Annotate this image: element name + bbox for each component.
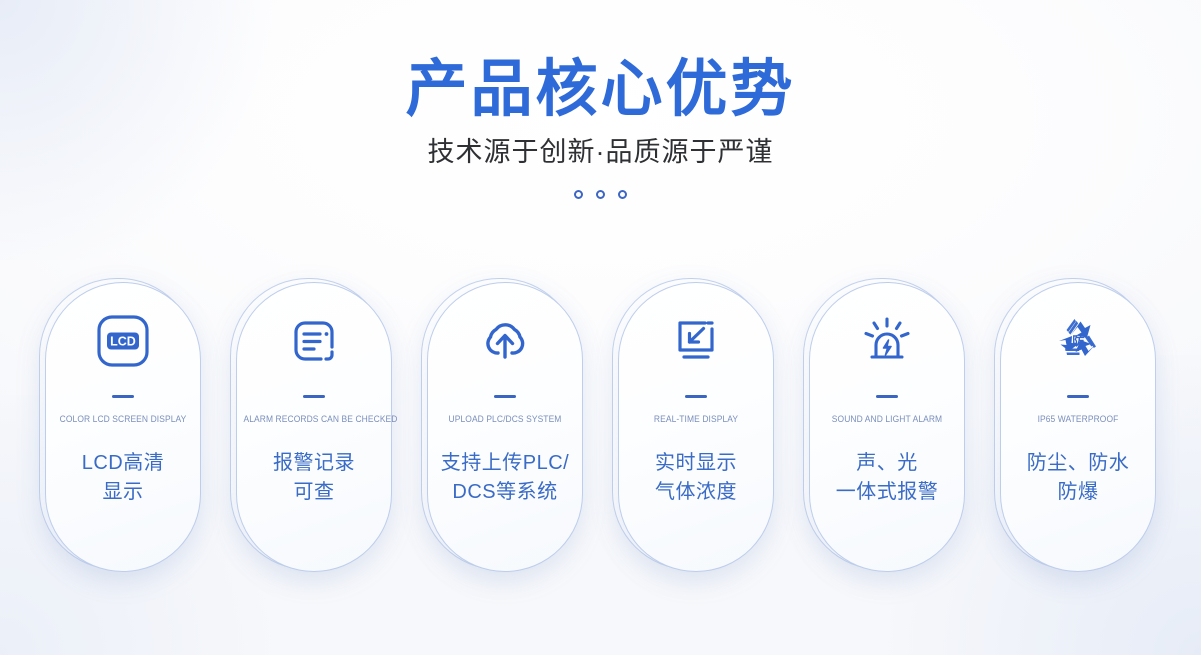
card-divider xyxy=(112,395,134,398)
card-caption: SOUND AND LIGHT ALARM xyxy=(817,415,958,425)
lcd-screen-icon: LCD xyxy=(96,283,150,387)
card-title-line2: 可查 xyxy=(239,478,389,507)
card-title-line1: 实时显示 xyxy=(655,452,737,474)
dot-icon xyxy=(596,190,605,199)
card-title-line2: 显示 xyxy=(48,478,198,507)
card-caption: UPLOAD PLC/DCS SYSTEM xyxy=(435,415,576,425)
card-title-line2: 气体浓度 xyxy=(621,478,771,507)
card-title: 声、光 一体式报警 xyxy=(812,449,962,507)
dot-icon xyxy=(574,190,583,199)
card-body[interactable]: LCD COLOR LCD SCREEN DISPLAY LCD高清 显示 xyxy=(45,282,201,572)
card-divider xyxy=(303,395,325,398)
feature-card[interactable]: REAL-TIME DISPLAY 实时显示 气体浓度 xyxy=(618,282,774,572)
monitor-display-icon xyxy=(668,283,724,387)
dot-separator xyxy=(0,168,1201,199)
card-divider xyxy=(494,395,516,398)
feature-card[interactable]: ALARM RECORDS CAN BE CHECKED 报警记录 可查 xyxy=(236,282,392,572)
card-divider xyxy=(685,395,707,398)
card-title-line1: 支持上传PLC/ xyxy=(441,452,569,474)
card-title: 支持上传PLC/ DCS等系统 xyxy=(430,449,580,507)
card-divider xyxy=(876,395,898,398)
card-title: 报警记录 可查 xyxy=(239,449,389,507)
card-body[interactable]: SOUND AND LIGHT ALARM 声、光 一体式报警 xyxy=(809,282,965,572)
feature-card-row: LCD COLOR LCD SCREEN DISPLAY LCD高清 显示 xyxy=(0,282,1201,572)
header-section: 产品核心优势 技术源于创新·品质源于严谨 xyxy=(0,0,1201,199)
siren-alarm-icon xyxy=(859,283,915,387)
card-caption: IP65 WATERPROOF xyxy=(1008,415,1149,425)
card-caption: COLOR LCD SCREEN DISPLAY xyxy=(53,415,194,425)
alarm-record-document-icon xyxy=(287,283,341,387)
card-title-line1: LCD高清 xyxy=(82,452,165,474)
feature-card[interactable]: 防 IP65 WATERPROOF 防尘、防水 防爆 xyxy=(1000,282,1156,572)
dot-icon xyxy=(618,190,627,199)
card-title: 防尘、防水 防爆 xyxy=(1003,449,1153,507)
feature-card[interactable]: UPLOAD PLC/DCS SYSTEM 支持上传PLC/ DCS等系统 xyxy=(427,282,583,572)
card-title: LCD高清 显示 xyxy=(48,449,198,507)
svg-text:LCD: LCD xyxy=(110,335,136,349)
card-body[interactable]: 防 IP65 WATERPROOF 防尘、防水 防爆 xyxy=(1000,282,1156,572)
card-caption: ALARM RECORDS CAN BE CHECKED xyxy=(244,415,385,425)
protection-recycle-icon: 防 xyxy=(1049,283,1107,387)
card-title: 实时显示 气体浓度 xyxy=(621,449,771,507)
cloud-upload-icon xyxy=(477,283,533,387)
card-title-line2: DCS等系统 xyxy=(430,478,580,507)
svg-text:防: 防 xyxy=(1072,334,1085,349)
feature-card[interactable]: LCD COLOR LCD SCREEN DISPLAY LCD高清 显示 xyxy=(45,282,201,572)
card-title-line2: 一体式报警 xyxy=(812,478,962,507)
card-title-line1: 报警记录 xyxy=(273,452,355,474)
card-body[interactable]: ALARM RECORDS CAN BE CHECKED 报警记录 可查 xyxy=(236,282,392,572)
page-title: 产品核心优势 xyxy=(0,0,1201,122)
card-body[interactable]: REAL-TIME DISPLAY 实时显示 气体浓度 xyxy=(618,282,774,572)
feature-card[interactable]: SOUND AND LIGHT ALARM 声、光 一体式报警 xyxy=(809,282,965,572)
card-body[interactable]: UPLOAD PLC/DCS SYSTEM 支持上传PLC/ DCS等系统 xyxy=(427,282,583,572)
card-caption: REAL-TIME DISPLAY xyxy=(626,415,767,425)
page-subtitle: 技术源于创新·品质源于严谨 xyxy=(0,122,1201,168)
card-title-line1: 声、光 xyxy=(856,452,918,474)
card-title-line2: 防爆 xyxy=(1003,478,1153,507)
card-divider xyxy=(1067,395,1089,398)
card-title-line1: 防尘、防水 xyxy=(1027,452,1130,474)
